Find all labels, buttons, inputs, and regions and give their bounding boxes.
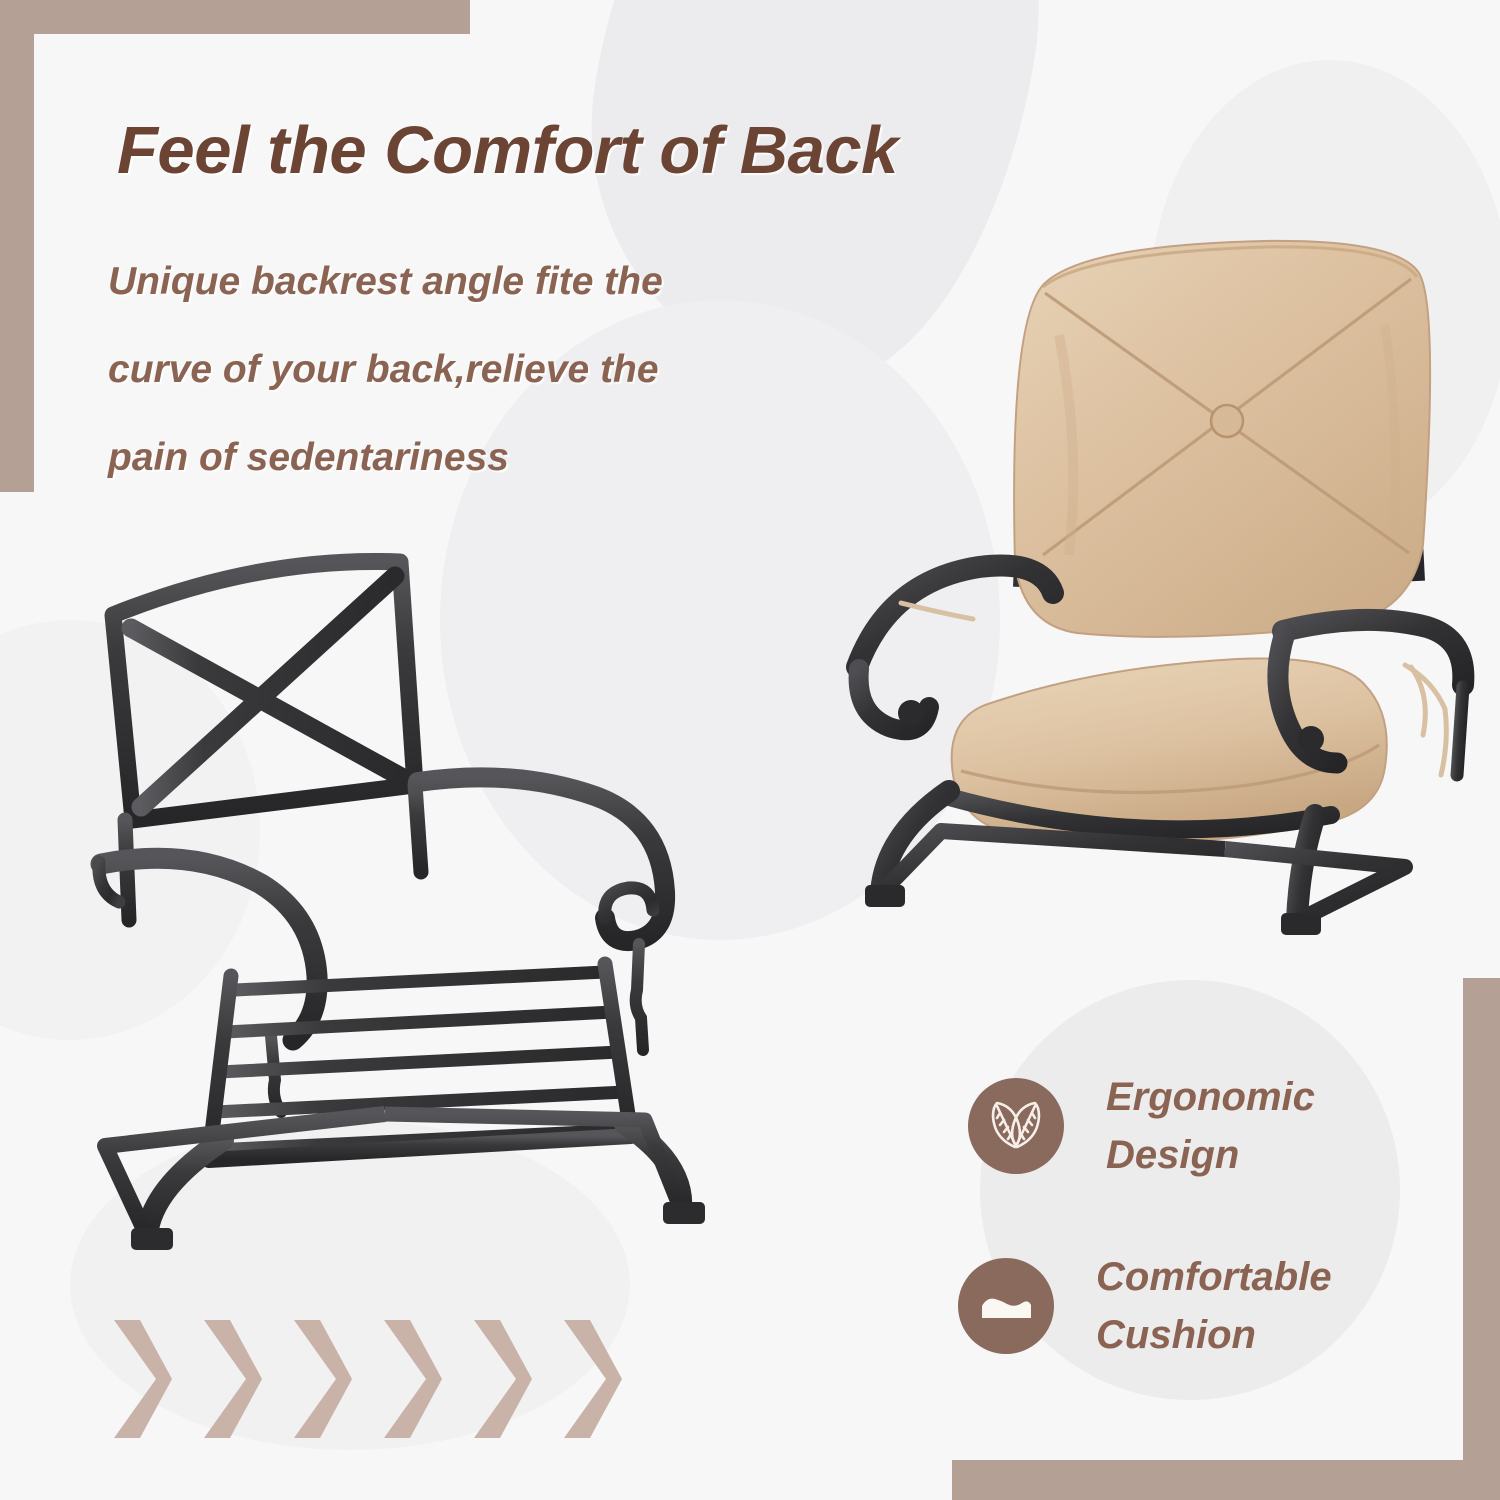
c-spring-leg-front-left: [147, 1140, 223, 1236]
badge-icon-wrapper: [968, 1078, 1064, 1174]
chair-foot: [1281, 913, 1321, 935]
sled-runner-front: [881, 831, 1225, 893]
subheading-line-1: Unique backrest angle fite the: [108, 238, 868, 326]
product-image-chair-frame: [85, 520, 725, 1260]
armrest-support-post-right: [1457, 687, 1463, 775]
feature-badge-label: Ergonomic Design: [1106, 1068, 1315, 1184]
subheading-line-2: curve of your back,relieve the: [108, 326, 868, 414]
corner-frame-bottom-right: [952, 1460, 1500, 1500]
corner-frame-top-left: [0, 0, 470, 34]
product-feature-banner: Feel the Comfort of Back Unique backrest…: [0, 0, 1500, 1500]
armrest-bolt-right: [1298, 726, 1324, 752]
leaf-icon: [984, 1094, 1048, 1158]
armrest-support-post-right: [636, 944, 643, 1050]
chevron-right-icon: [200, 1318, 266, 1440]
sled-runner-left: [105, 1114, 385, 1236]
backrest-x-brace: [141, 576, 395, 807]
feature-badge-label: Comfortable Cushion: [1096, 1248, 1332, 1364]
page-title: Feel the Comfort of Back: [117, 112, 898, 189]
badge-icon-wrapper: [958, 1258, 1054, 1354]
chevron-right-icon: [380, 1318, 446, 1440]
subheading-copy: Unique backrest angle fite the curve of …: [108, 238, 868, 502]
tufted-button: [1211, 405, 1243, 437]
product-image-chair-with-cushions: [845, 215, 1485, 1005]
chevron-arrow-decoration: [110, 1318, 626, 1440]
feature-badge-ergonomic-design: Ergonomic Design: [968, 1068, 1315, 1184]
chevron-right-icon: [110, 1318, 176, 1440]
armrest-bolt-left: [898, 700, 924, 726]
chair-foot: [131, 1228, 173, 1250]
chair-foot: [663, 1202, 705, 1224]
corner-frame-bottom-right: [1463, 978, 1500, 1500]
feature-badge-comfortable-cushion: Comfortable Cushion: [958, 1248, 1332, 1364]
subheading-line-3: pain of sedentariness: [108, 414, 868, 502]
armrest-right: [418, 777, 665, 941]
sled-runner-back: [1225, 849, 1405, 921]
chevron-right-icon: [290, 1318, 356, 1440]
chevron-right-icon: [470, 1318, 536, 1440]
corner-frame-top-left: [0, 0, 34, 492]
chair-foot: [865, 885, 905, 907]
chevron-right-icon: [560, 1318, 626, 1440]
cushion-icon: [974, 1274, 1038, 1338]
